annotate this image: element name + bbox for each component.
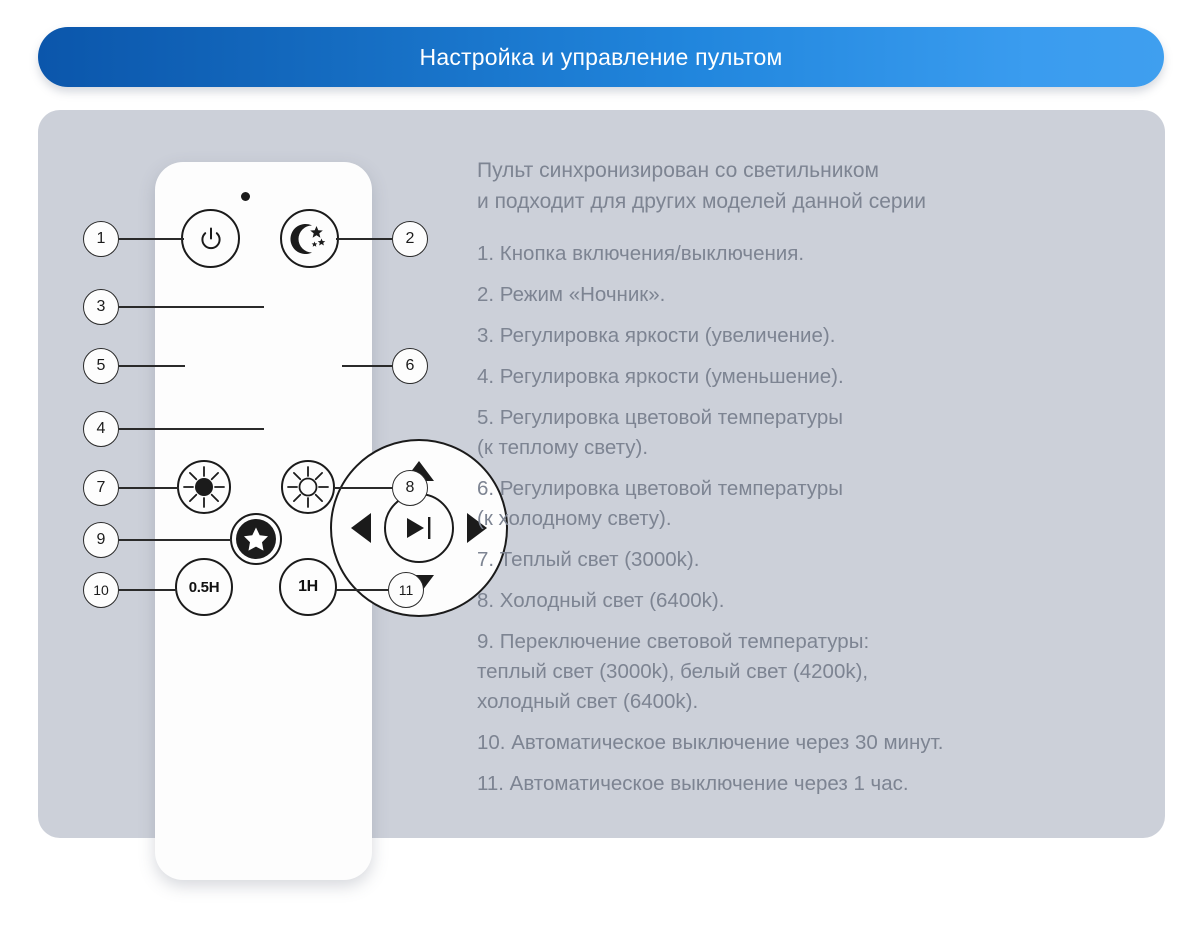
callout-3[interactable]: 3 (83, 289, 119, 325)
list-item: 1. Кнопка включения/выключения. (477, 239, 1117, 269)
led-indicator-icon (241, 192, 250, 201)
callout-9[interactable]: 9 (83, 522, 119, 558)
intro-line-1: Пульт синхронизирован со светильником (477, 155, 1117, 186)
page-title: Настройка и управление пультом (420, 44, 783, 71)
remote-control-body: 0.5H 1H (155, 162, 372, 880)
night-mode-button[interactable] (280, 209, 339, 268)
header-banner: Настройка и управление пультом (38, 27, 1164, 87)
play-pause-icon (399, 513, 439, 543)
callout-10[interactable]: 10 (83, 572, 119, 608)
list-item: 9. Переключение световой температуры:теп… (477, 627, 1117, 717)
leader-line-8 (334, 487, 392, 489)
star-disc (236, 519, 276, 559)
sun-hollow-icon (285, 464, 331, 510)
cool-light-button[interactable] (281, 460, 335, 514)
leader-line-10 (119, 589, 177, 591)
warm-light-button[interactable] (177, 460, 231, 514)
leader-line-5 (119, 365, 185, 367)
leader-line-7 (119, 487, 179, 489)
callout-2[interactable]: 2 (392, 221, 428, 257)
power-icon (196, 224, 226, 254)
list-item: 5. Регулировка цветовой температуры(к те… (477, 403, 1117, 463)
callout-8[interactable]: 8 (392, 470, 428, 506)
callout-1[interactable]: 1 (83, 221, 119, 257)
callout-11[interactable]: 11 (388, 572, 424, 608)
description-column: Пульт синхронизирован со светильником и … (477, 155, 1117, 810)
list-item: 8. Холодный свет (6400k). (477, 586, 1117, 616)
list-item: 3. Регулировка яркости (увеличение). (477, 321, 1117, 351)
sun-filled-icon (181, 464, 227, 510)
timer-30min-label: 0.5H (189, 579, 220, 596)
callout-6[interactable]: 6 (392, 348, 428, 384)
list-item: 2. Режим «Ночник». (477, 280, 1117, 310)
list-item: 6. Регулировка цветовой температуры(к хо… (477, 474, 1117, 534)
callout-7[interactable]: 7 (83, 470, 119, 506)
color-temp-warm-button[interactable] (351, 513, 371, 543)
intro-text: Пульт синхронизирован со светильником и … (477, 155, 1117, 217)
power-button[interactable] (181, 209, 240, 268)
timer-30min-button[interactable]: 0.5H (175, 558, 233, 616)
list-item: 11. Автоматическое выключение через 1 ча… (477, 769, 1117, 799)
leader-line-11 (336, 589, 388, 591)
moon-stars-icon (288, 217, 332, 261)
list-item: 10. Автоматическое выключение через 30 м… (477, 728, 1117, 758)
instruction-list: 1. Кнопка включения/выключения. 2. Режим… (477, 239, 1117, 799)
callout-5[interactable]: 5 (83, 348, 119, 384)
intro-line-2: и подходит для других моделей данной сер… (477, 186, 1117, 217)
leader-line-4 (119, 428, 264, 430)
leader-line-3 (119, 306, 264, 308)
leader-line-2 (336, 238, 392, 240)
list-item: 4. Регулировка яркости (уменьшение). (477, 362, 1117, 392)
leader-line-9 (119, 539, 232, 541)
star-icon (243, 526, 269, 552)
leader-line-1 (119, 238, 184, 240)
leader-line-6 (342, 365, 392, 367)
list-item: 7. Теплый свет (3000k). (477, 545, 1117, 575)
timer-1hour-button[interactable]: 1H (279, 558, 337, 616)
callout-4[interactable]: 4 (83, 411, 119, 447)
timer-1hour-label: 1H (298, 578, 318, 596)
color-temp-cycle-button[interactable] (230, 513, 282, 565)
